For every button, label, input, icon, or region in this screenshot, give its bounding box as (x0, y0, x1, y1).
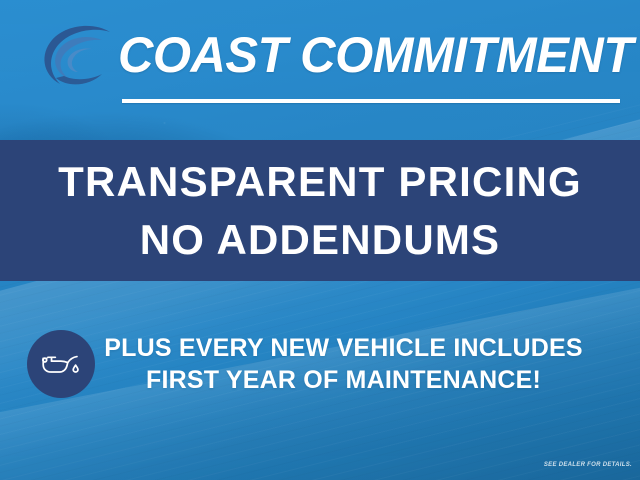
page-title: COAST COMMITMENT (118, 22, 618, 88)
oil-can-icon (39, 346, 83, 382)
disclaimer-text: SEE DEALER FOR DETAILS. (544, 462, 632, 468)
promo-text: PLUS EVERY NEW VEHICLE INCLUDES FIRST YE… (95, 332, 640, 396)
headline-band: TRANSPARENT PRICING NO ADDENDUMS (0, 140, 640, 281)
headline-line-no-addendums: NO ADDENDUMS (140, 217, 501, 262)
promo-badge (27, 330, 95, 398)
header-divider (122, 99, 620, 103)
coast-commitment-ad: COAST COMMITMENT TRANSPARENT PRICING NO … (0, 0, 640, 480)
promo-section: PLUS EVERY NEW VEHICLE INCLUDES FIRST YE… (0, 318, 640, 410)
headline-line-transparent-pricing: TRANSPARENT PRICING (58, 159, 582, 204)
promo-line-1: PLUS EVERY NEW VEHICLE INCLUDES (95, 332, 592, 364)
coast-wave-swirl-icon (36, 22, 114, 94)
ad-header: COAST COMMITMENT (0, 0, 640, 140)
promo-line-2: FIRST YEAR OF MAINTENANCE! (95, 364, 592, 396)
